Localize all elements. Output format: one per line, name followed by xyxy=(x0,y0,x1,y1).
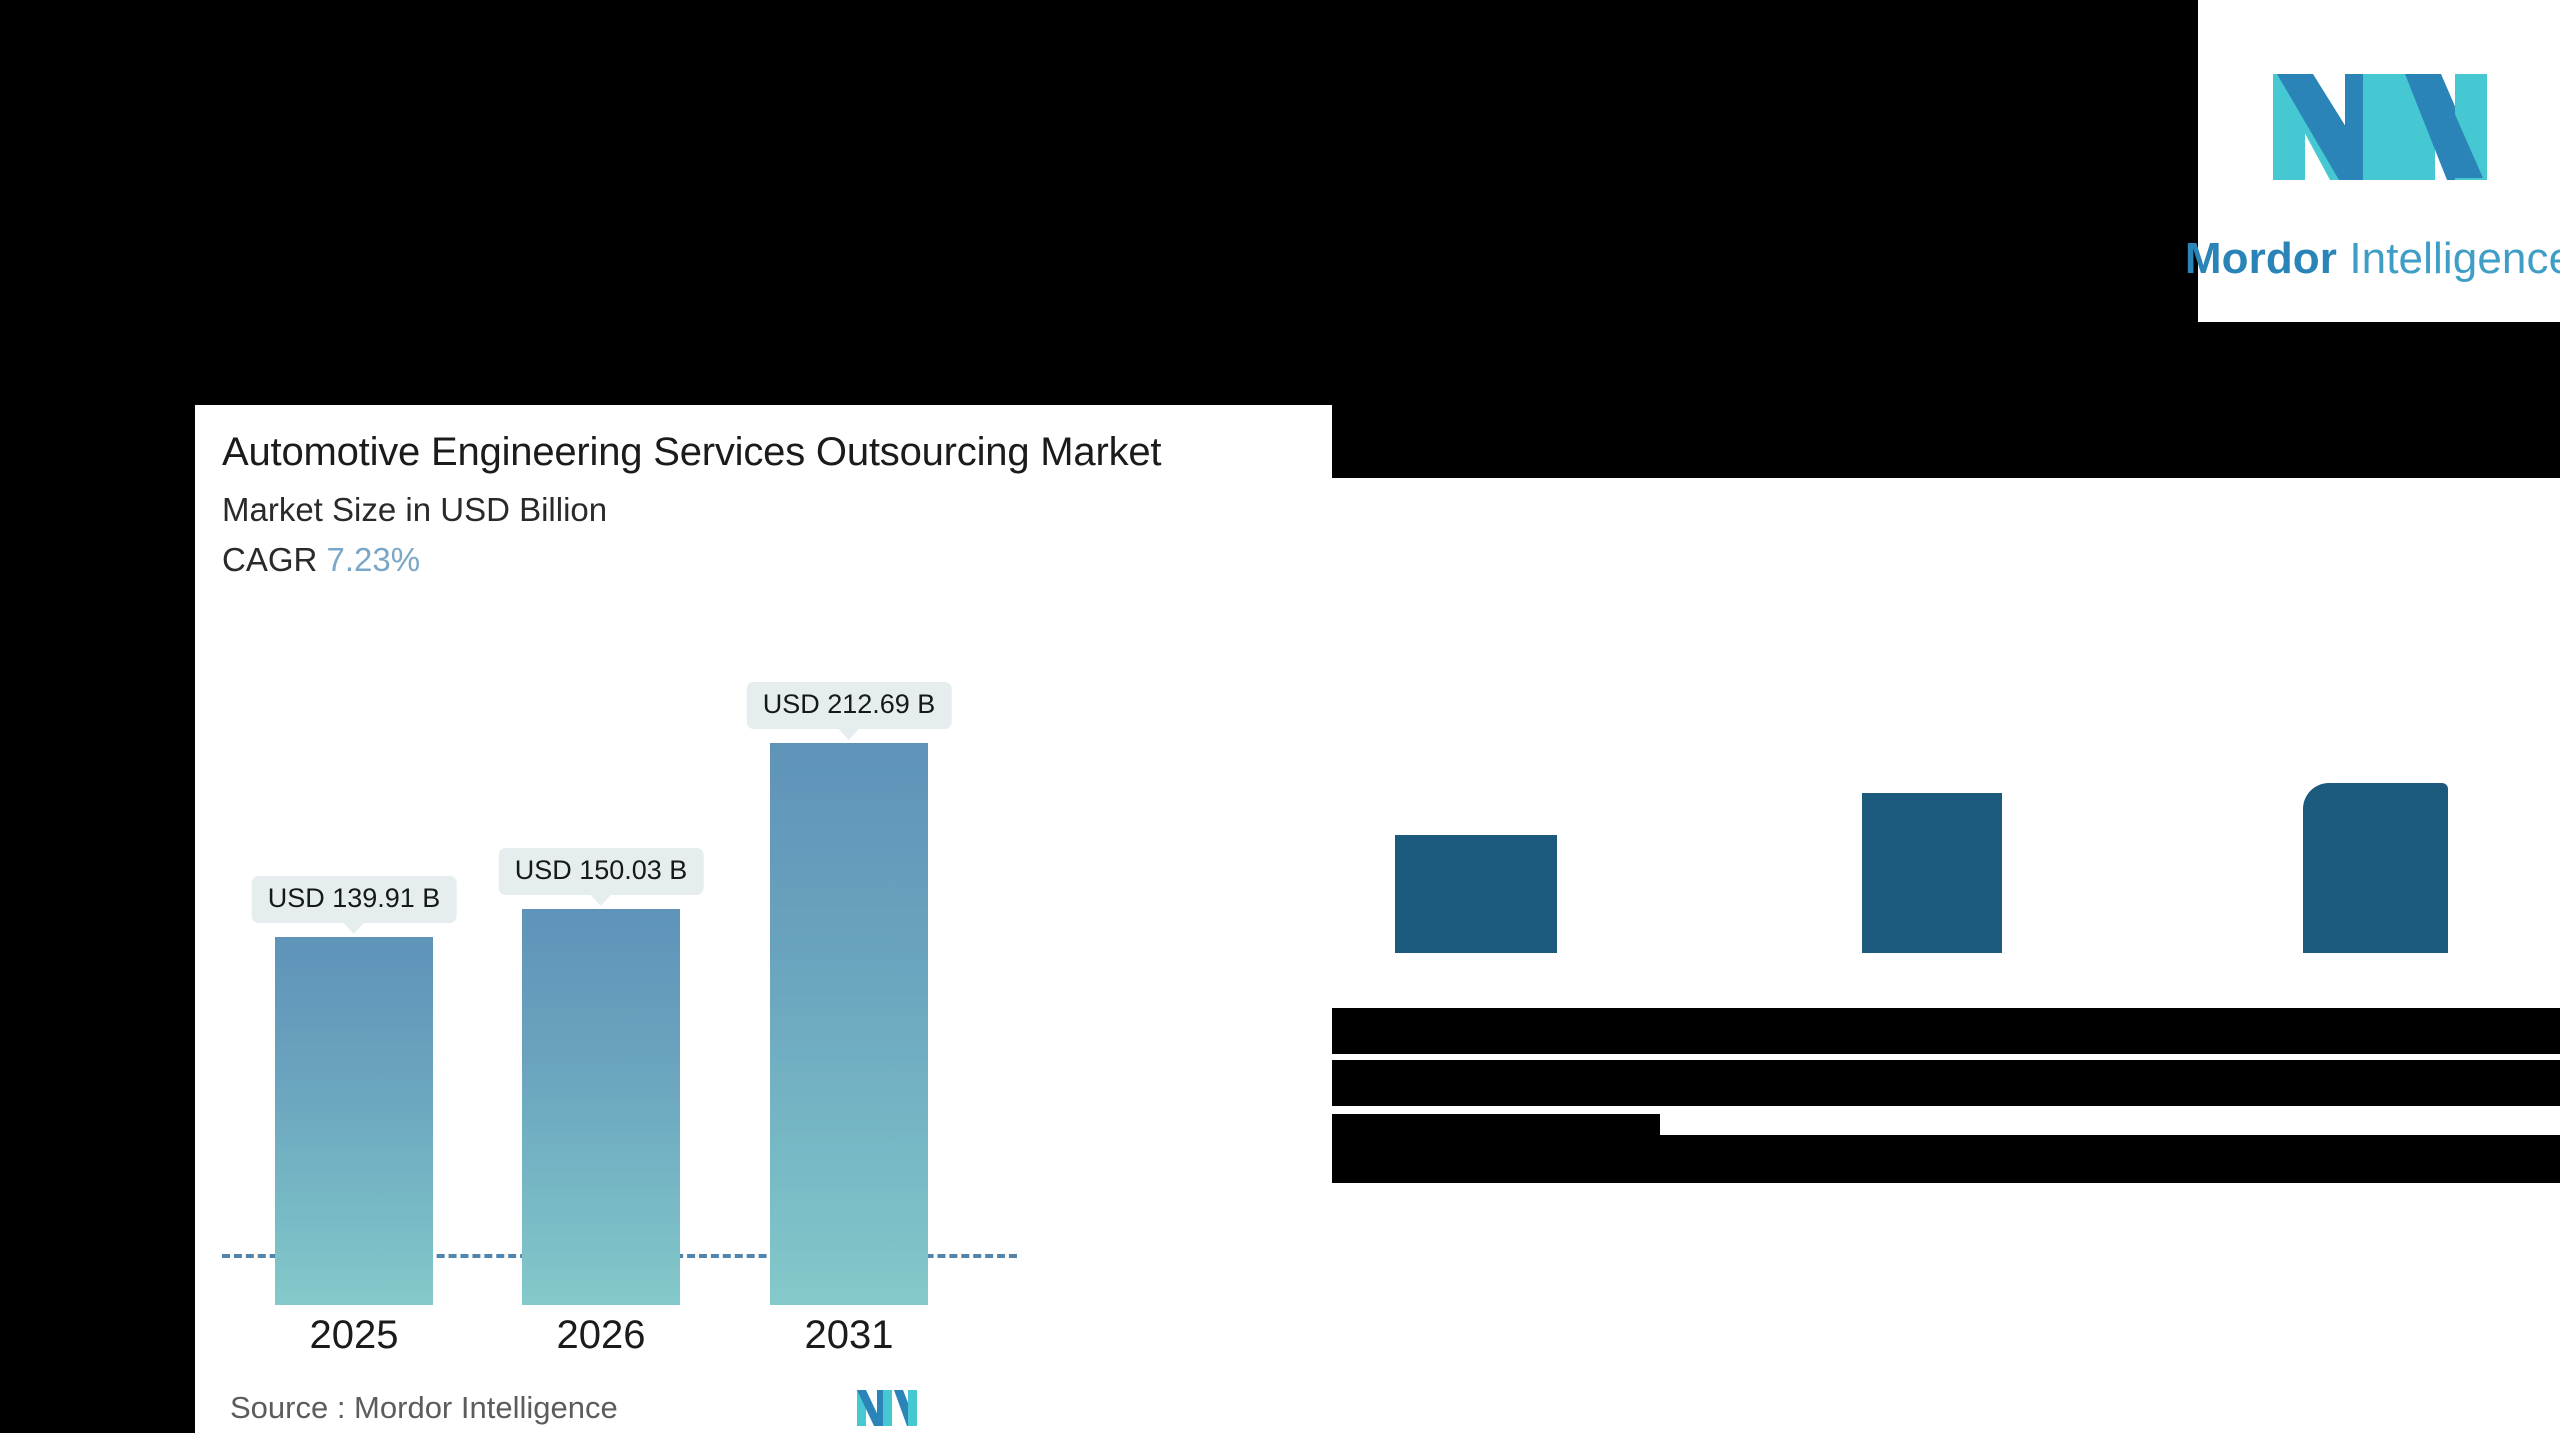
data-label-2025: USD 139.91 B xyxy=(252,876,457,923)
data-label-2031: USD 212.69 B xyxy=(747,682,952,729)
bar-2031[interactable] xyxy=(770,743,928,1305)
brand-logo-card: Mordor Intelligence xyxy=(2198,0,2560,322)
screenshot-stage: Mordor Intelligence Automotive Engineeri… xyxy=(0,0,2560,1433)
market-size-chart-card: Automotive Engineering Services Outsourc… xyxy=(195,405,1332,1433)
page-title: Automotive Engineering Services Outsourc… xyxy=(222,429,1302,476)
x-tick-2026: 2026 xyxy=(522,1313,680,1358)
source-label: Source : Mordor Intelligence xyxy=(230,1390,618,1426)
brand-name-light: Intelligence xyxy=(2337,234,2560,283)
secondary-chart-bars xyxy=(1332,478,2560,1433)
chart-footer: Source : Mordor Intelligence xyxy=(222,1390,1307,1433)
cagr-label: CAGR xyxy=(222,541,317,578)
bar-2025[interactable] xyxy=(275,937,433,1305)
brand-name-bold: Mordor xyxy=(2185,234,2337,283)
x-tick-2031: 2031 xyxy=(770,1313,928,1358)
chart-subtitle: Market Size in USD Billion xyxy=(222,490,1302,530)
chart-header: Automotive Engineering Services Outsourc… xyxy=(222,429,1302,579)
cagr-line: CAGR 7.23% xyxy=(222,540,1302,580)
secondary-chart-panel xyxy=(1332,478,2560,1433)
data-label-2026: USD 150.03 B xyxy=(499,848,704,895)
secondary-obscured-text-row-4 xyxy=(1330,1135,2560,1183)
mordor-m-logo-icon xyxy=(2267,38,2492,218)
secondary-bar-2 xyxy=(1862,793,2002,953)
mordor-m-logo-icon xyxy=(855,1384,919,1432)
bar-group: USD 139.91 B USD 150.03 B USD 212.69 B xyxy=(222,740,1307,1305)
secondary-bar-1 xyxy=(1395,835,1557,953)
plot-area: USD 139.91 B USD 150.03 B USD 212.69 B xyxy=(222,740,1307,1305)
secondary-obscured-text-row-1 xyxy=(1330,1008,2560,1054)
secondary-obscured-text-row-3 xyxy=(1330,1114,1660,1136)
secondary-bar-3 xyxy=(2303,783,2448,953)
bar-2026[interactable] xyxy=(522,909,680,1305)
secondary-obscured-text-row-2 xyxy=(1330,1060,2560,1106)
x-axis: 2025 2026 2031 xyxy=(222,1313,1307,1369)
x-tick-2025: 2025 xyxy=(275,1313,433,1358)
brand-name: Mordor Intelligence xyxy=(2185,234,2560,284)
cagr-value: 7.23% xyxy=(327,541,421,578)
